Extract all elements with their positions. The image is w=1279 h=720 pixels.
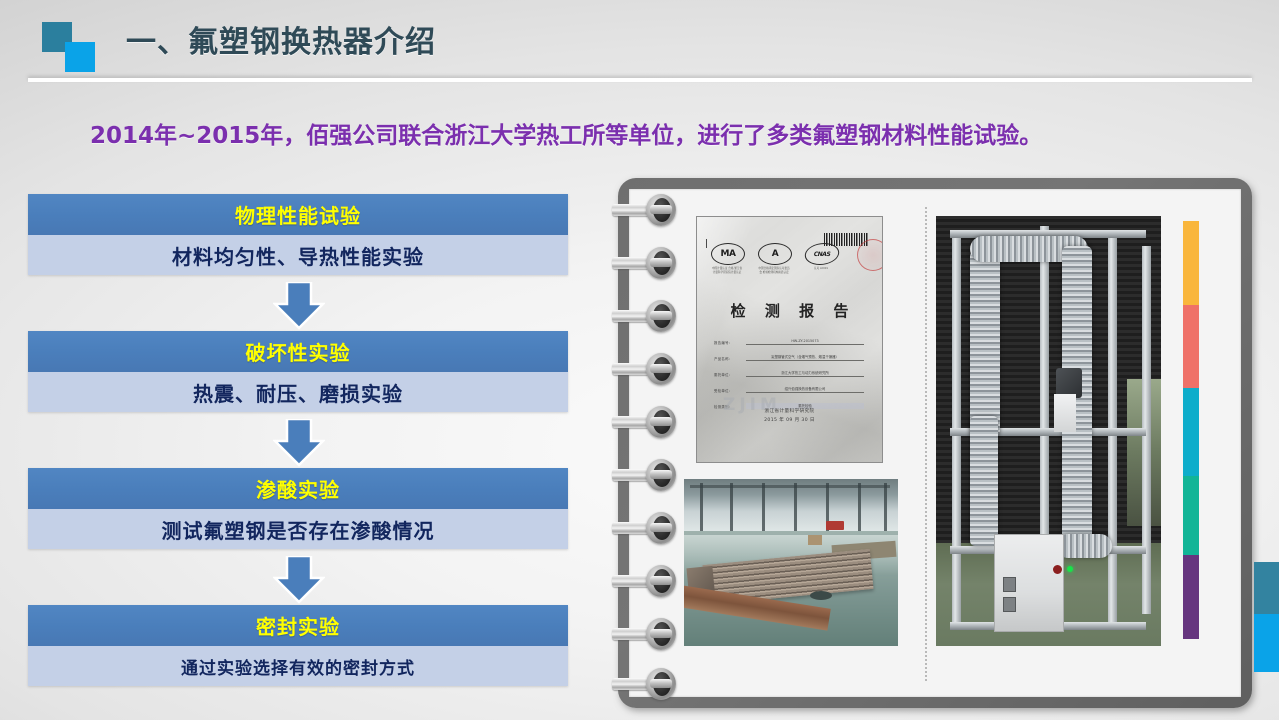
thermal-test-rig-photo [936,216,1161,646]
tab-orange[interactable] [1183,221,1199,305]
flow-step-1: 物理性能试验 材料均匀性、导热性能实验 [28,194,568,275]
cal-certification-icon: A 中国合格评定国家认可委员会 检验检测机构资质认定 [758,243,790,275]
tab-teal[interactable] [1183,476,1199,555]
subtitle-text: 2014年~2015年，佰强公司联合浙江大学热工所等单位，进行了多类氟塑钢材料性… [90,116,1210,150]
flow-step-3-title: 渗酸实验 [28,468,568,509]
slide-canvas: 一、氟塑钢换热器介绍 2014年~2015年，佰强公司联合浙江大学热工所等单位，… [0,0,1279,720]
document-footer: 浙江省计量科学研究院 2015 年 09 月 30 日 [697,407,882,426]
factory-column [794,483,797,533]
status-led-indicator [1067,566,1073,572]
cabinet-switch[interactable] [1003,597,1016,612]
tab-coral[interactable] [1183,305,1199,389]
flow-step-2: 破坏性实验 热震、耐压、磨损实验 [28,331,568,412]
flow-step-3-description: 测试氟塑钢是否存在渗酸情况 [28,509,568,549]
page-margin-mark [706,239,707,248]
document-field-row: 委托单位： 浙江大学热工与动力系统研究所 [714,361,864,377]
corner-block-cyan [1254,614,1279,672]
emergency-stop-button[interactable] [1053,565,1062,574]
page-title: 一、氟塑钢换热器介绍 [126,17,436,61]
factory-tube-bundle-photo [684,479,898,646]
control-cabinet [994,534,1064,632]
document-field-row: 报告编号： HW-ZY-2015073 [714,329,864,345]
tab-cyan[interactable] [1183,388,1199,476]
red-forklift [826,521,844,530]
notebook-frame: MA 中国计量认证 合格 浙江省计量科学研究院计量认证 A 中国合格评定国家认可… [618,178,1252,708]
cardboard-box [808,535,822,545]
cabinet-switch[interactable] [1003,577,1016,592]
floor-manhole [810,591,832,600]
page-divider-dotted [925,207,927,681]
flow-step-2-description: 热震、耐压、磨损实验 [28,372,568,412]
decorative-square-light [65,42,95,72]
test-report-document-photo: MA 中国计量认证 合格 浙江省计量科学研究院计量认证 A 中国合格评定国家认可… [696,216,883,463]
color-tab-strip [1183,221,1199,639]
document-field-row: 受检单位： 绍兴佰强换热设备有限公司 [714,377,864,393]
factory-column [700,483,703,533]
flow-step-4: 密封实验 通过实验选择有效的密封方式 [28,605,568,686]
insulated-duct-left-lower [970,416,998,546]
corner-block-teal [1254,562,1279,614]
flow-step-1-description: 材料均匀性、导热性能实验 [28,235,568,275]
flow-step-3: 渗酸实验 测试氟塑钢是否存在渗酸情况 [28,468,568,549]
flow-arrow-3 [273,556,325,604]
corner-decoration [1254,562,1279,672]
factory-column [762,483,765,533]
flow-arrow-1 [273,282,325,330]
flow-step-4-description: 通过实验选择有效的密封方式 [28,646,568,686]
certification-marks: MA 中国计量认证 合格 浙江省计量科学研究院计量认证 A 中国合格评定国家认可… [711,243,846,283]
title-divider [28,78,1252,82]
flow-step-4-title: 密封实验 [28,605,568,646]
experiment-flowchart: 物理性能试验 材料均匀性、导热性能实验 破坏性实验 热震、耐压、磨损实验 渗酸实… [28,194,568,702]
flow-arrow-2 [273,419,325,467]
small-tank [1054,394,1076,432]
red-seal-stamp-icon [857,239,883,271]
tab-purple[interactable] [1183,555,1199,639]
document-field-row: 产品名称： 氟塑钢管式空气（含烟气预热、烟温干燥器） [714,345,864,361]
flow-step-1-title: 物理性能试验 [28,194,568,235]
cnas-certification-icon: CNAS 认可 L0001 [805,243,837,271]
cma-certification-icon: MA 中国计量认证 合格 浙江省计量科学研究院计量认证 [711,243,743,275]
factory-column [730,483,733,533]
flow-step-2-title: 破坏性实验 [28,331,568,372]
insulated-duct-left [970,250,1000,436]
factory-column [884,483,887,533]
notebook-page: MA 中国计量认证 合格 浙江省计量科学研究院计量认证 A 中国合格评定国家认可… [629,189,1241,697]
factory-column [858,483,861,533]
document-title: 检 测 报 告 [697,300,882,321]
insulated-duct-bottom [1056,534,1112,558]
